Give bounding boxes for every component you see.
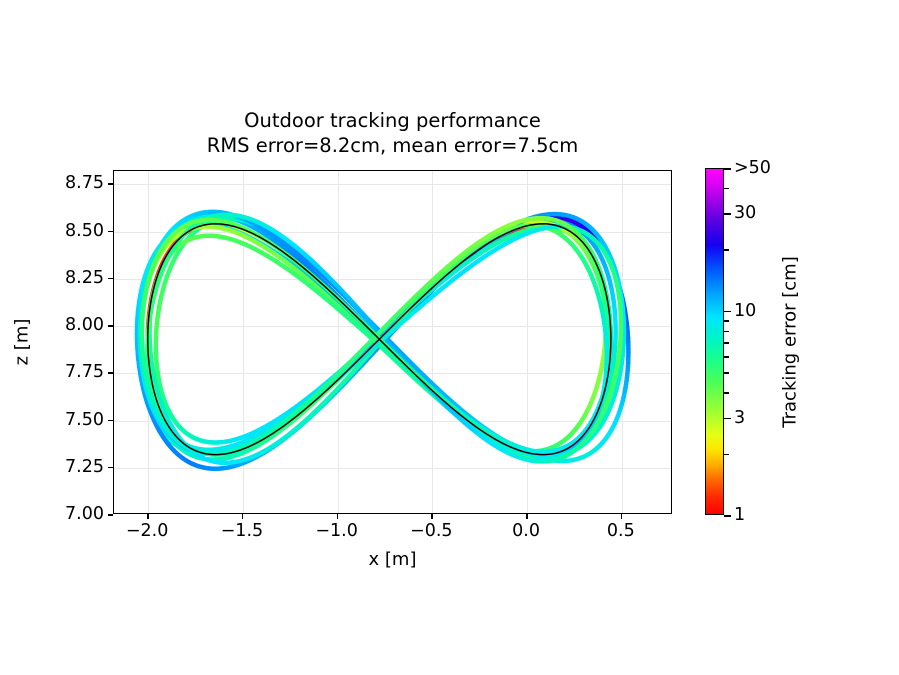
y-tick	[108, 278, 113, 280]
chart-subtitle: RMS error=8.2cm, mean error=7.5cm	[113, 133, 672, 158]
x-tick-label: −2.0	[126, 521, 169, 541]
chart-title: Outdoor tracking performance	[113, 108, 672, 133]
y-tick	[108, 372, 113, 374]
x-tick-label: 0.5	[607, 521, 635, 541]
trajectory-layer	[114, 171, 672, 514]
colorbar-major-tick	[724, 515, 731, 517]
colorbar-major-tick	[724, 418, 731, 420]
colorbar-minor-tick	[724, 188, 729, 190]
y-axis-label: z [m]	[12, 319, 33, 366]
colorbar-minor-tick	[724, 392, 729, 394]
colorbar-minor-tick	[724, 249, 729, 251]
y-tick	[108, 325, 113, 327]
y-tick	[108, 514, 113, 516]
y-tick-label: 7.50	[65, 410, 104, 430]
y-tick	[108, 420, 113, 422]
x-tick	[147, 514, 149, 519]
y-tick	[108, 467, 113, 469]
reference-trajectory	[148, 224, 611, 455]
colorbar-tick-label: 3	[734, 408, 745, 428]
y-tick-label: 7.25	[65, 457, 104, 477]
colorbar: 131030>50	[705, 168, 724, 515]
y-tick	[108, 183, 113, 185]
colorbar-minor-tick	[724, 342, 729, 344]
colorbar-gradient	[705, 168, 724, 515]
y-tick-label: 8.00	[65, 315, 104, 335]
x-tick	[337, 514, 339, 519]
colorbar-tick-label: >50	[734, 158, 771, 178]
colorbar-major-tick	[724, 213, 731, 215]
colorbar-major-tick	[724, 168, 731, 170]
trajectory-lap	[147, 215, 621, 462]
y-tick-label: 8.50	[65, 221, 104, 241]
x-tick-label: 0.0	[512, 521, 540, 541]
y-tick-label: 7.00	[65, 504, 104, 524]
colorbar-minor-tick	[724, 454, 729, 456]
x-tick	[526, 514, 528, 519]
y-tick	[108, 231, 113, 233]
colorbar-minor-tick	[724, 356, 729, 358]
y-tick-label: 8.75	[65, 173, 104, 193]
chart-title-block: Outdoor tracking performance RMS error=8…	[113, 108, 672, 158]
plot-area	[113, 170, 672, 514]
figure-canvas: Outdoor tracking performance RMS error=8…	[0, 0, 899, 675]
x-axis-label: x [m]	[113, 549, 672, 570]
y-tick-label: 7.75	[65, 362, 104, 382]
x-tick	[242, 514, 244, 519]
y-tick-label: 8.25	[65, 268, 104, 288]
colorbar-tick-label: 10	[734, 301, 756, 321]
colorbar-tick-label: 1	[734, 505, 745, 525]
x-tick	[621, 514, 623, 519]
colorbar-minor-tick	[724, 320, 729, 322]
x-tick-label: −0.5	[410, 521, 453, 541]
colorbar-major-tick	[724, 311, 731, 313]
x-tick-label: −1.0	[315, 521, 358, 541]
colorbar-label: Tracking error [cm]	[780, 256, 801, 427]
x-tick-label: −1.5	[221, 521, 264, 541]
colorbar-tick-label: 30	[734, 203, 756, 223]
x-tick	[431, 514, 433, 519]
colorbar-minor-tick	[724, 331, 729, 333]
colorbar-minor-tick	[724, 372, 729, 374]
